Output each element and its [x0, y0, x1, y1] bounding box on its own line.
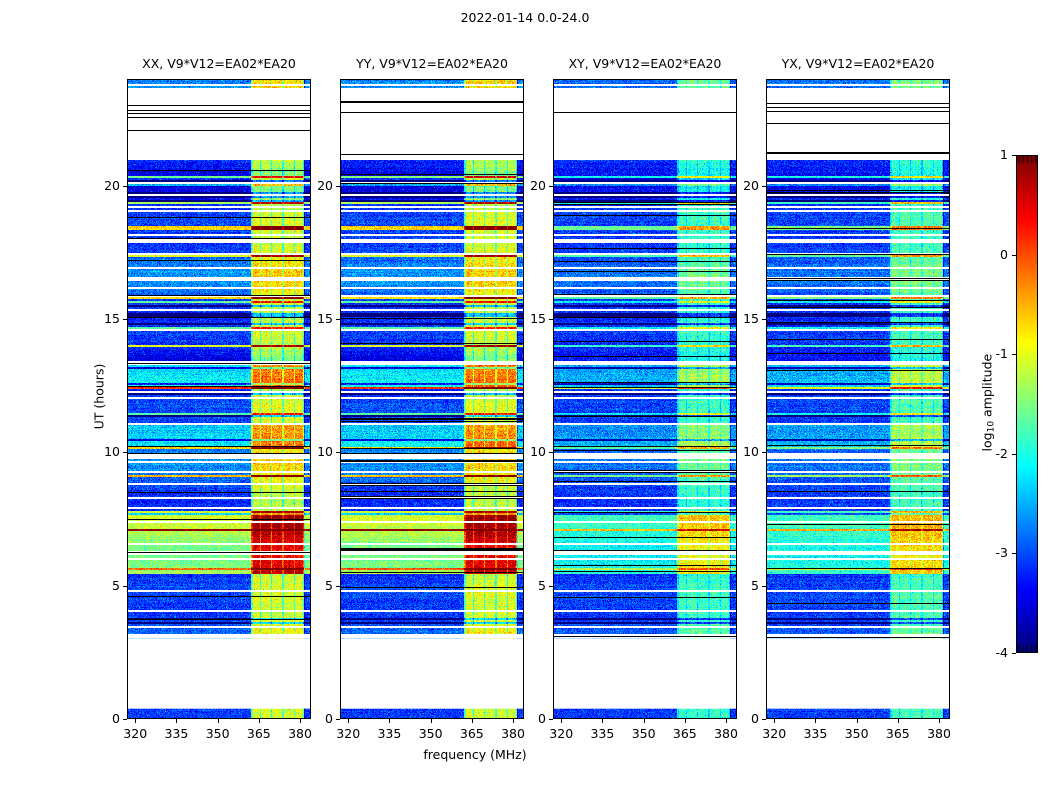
x-tick-label: 335: [156, 726, 196, 741]
x-tick-label: 350: [837, 726, 877, 741]
x-tick-label: 335: [369, 726, 409, 741]
figure-canvas: 2022-01-14 0.0-24.0 XX, V9*V12=EA02*EA20…: [0, 0, 1050, 800]
x-tick-label: 320: [754, 726, 794, 741]
colorbar-tick-label: -1: [968, 346, 1008, 361]
x-tick-label: 380: [919, 726, 959, 741]
x-tick-mark: [774, 719, 775, 723]
y-tick-mark: [549, 452, 553, 453]
x-tick-label: 365: [452, 726, 492, 741]
y-tick-label: 15: [295, 311, 333, 326]
y-tick-mark: [549, 586, 553, 587]
x-tick-label: 350: [624, 726, 664, 741]
y-tick-mark: [549, 319, 553, 320]
y-tick-mark: [549, 719, 553, 720]
y-tick-label: 20: [721, 178, 759, 193]
y-tick-label: 20: [508, 178, 546, 193]
x-tick-mark: [259, 719, 260, 723]
y-tick-label: 0: [82, 711, 120, 726]
y-tick-label: 15: [508, 311, 546, 326]
x-tick-label: 350: [198, 726, 238, 741]
y-tick-mark: [549, 186, 553, 187]
y-tick-label: 0: [295, 711, 333, 726]
waterfall-image: [341, 80, 523, 718]
y-tick-label: 10: [295, 444, 333, 459]
y-tick-mark: [123, 186, 127, 187]
x-tick-mark: [472, 719, 473, 723]
x-tick-mark: [431, 719, 432, 723]
waterfall-panel-xy[interactable]: [553, 79, 737, 719]
waterfall-image: [767, 80, 949, 718]
x-tick-mark: [218, 719, 219, 723]
x-tick-mark: [135, 719, 136, 723]
x-tick-mark: [176, 719, 177, 723]
colorbar-tick-mark: [1012, 354, 1016, 355]
y-tick-mark: [336, 319, 340, 320]
x-tick-mark: [939, 719, 940, 723]
colorbar-tick-label: 0: [968, 247, 1008, 262]
y-tick-mark: [123, 586, 127, 587]
x-tick-mark: [898, 719, 899, 723]
x-tick-label: 320: [328, 726, 368, 741]
x-tick-mark: [685, 719, 686, 723]
x-tick-label: 365: [665, 726, 705, 741]
y-tick-mark: [762, 586, 766, 587]
waterfall-panel-yy[interactable]: [340, 79, 524, 719]
y-tick-label: 15: [82, 311, 120, 326]
colorbar-tick-mark: [1012, 653, 1016, 654]
y-tick-label: 0: [508, 711, 546, 726]
waterfall-panel-yx[interactable]: [766, 79, 950, 719]
y-tick-mark: [762, 186, 766, 187]
x-tick-mark: [348, 719, 349, 723]
y-tick-label: 5: [295, 578, 333, 593]
panel-title-yy: YY, V9*V12=EA02*EA20: [340, 56, 524, 71]
colorbar-tick-label: -3: [968, 545, 1008, 560]
colorbar[interactable]: [1016, 155, 1038, 653]
y-tick-mark: [762, 719, 766, 720]
y-tick-mark: [336, 186, 340, 187]
x-tick-label: 335: [582, 726, 622, 741]
y-tick-label: 15: [721, 311, 759, 326]
y-tick-label: 10: [82, 444, 120, 459]
colorbar-label-subscript: 10: [987, 421, 997, 432]
x-tick-label: 365: [239, 726, 279, 741]
y-tick-mark: [762, 452, 766, 453]
x-tick-mark: [644, 719, 645, 723]
x-tick-mark: [602, 719, 603, 723]
x-axis-label: frequency (MHz): [0, 747, 950, 762]
figure-suptitle: 2022-01-14 0.0-24.0: [0, 10, 1050, 25]
y-tick-mark: [336, 452, 340, 453]
colorbar-tick-label: 1: [968, 147, 1008, 162]
colorbar-label-suffix: amplitude: [979, 354, 994, 421]
x-tick-label: 350: [411, 726, 451, 741]
y-tick-mark: [123, 719, 127, 720]
x-tick-label: 380: [706, 726, 746, 741]
y-tick-mark: [123, 452, 127, 453]
x-tick-label: 380: [280, 726, 320, 741]
colorbar-tick-mark: [1012, 255, 1016, 256]
x-tick-mark: [561, 719, 562, 723]
colorbar-tick-mark: [1012, 155, 1016, 156]
x-tick-label: 320: [115, 726, 155, 741]
y-tick-label: 0: [721, 711, 759, 726]
x-tick-mark: [815, 719, 816, 723]
colorbar-tick-mark: [1012, 553, 1016, 554]
y-tick-label: 5: [721, 578, 759, 593]
colorbar-tick-label: -4: [968, 645, 1008, 660]
y-tick-label: 10: [508, 444, 546, 459]
waterfall-panel-xx[interactable]: [127, 79, 311, 719]
x-tick-mark: [857, 719, 858, 723]
x-tick-label: 380: [493, 726, 533, 741]
waterfall-image: [554, 80, 736, 718]
y-tick-mark: [123, 319, 127, 320]
y-tick-label: 5: [82, 578, 120, 593]
x-tick-mark: [389, 719, 390, 723]
y-tick-mark: [762, 319, 766, 320]
panel-title-xy: XY, V9*V12=EA02*EA20: [553, 56, 737, 71]
x-tick-label: 320: [541, 726, 581, 741]
y-tick-label: 10: [721, 444, 759, 459]
colorbar-tick-mark: [1012, 454, 1016, 455]
y-tick-mark: [336, 719, 340, 720]
panel-title-xx: XX, V9*V12=EA02*EA20: [127, 56, 311, 71]
y-tick-mark: [336, 586, 340, 587]
panel-title-yx: YX, V9*V12=EA02*EA20: [766, 56, 950, 71]
y-tick-label: 20: [295, 178, 333, 193]
colorbar-tick-label: -2: [968, 446, 1008, 461]
colorbar-gradient: [1017, 156, 1037, 652]
x-tick-label: 365: [878, 726, 918, 741]
waterfall-image: [128, 80, 310, 718]
x-tick-label: 335: [795, 726, 835, 741]
y-tick-label: 20: [82, 178, 120, 193]
y-tick-label: 5: [508, 578, 546, 593]
